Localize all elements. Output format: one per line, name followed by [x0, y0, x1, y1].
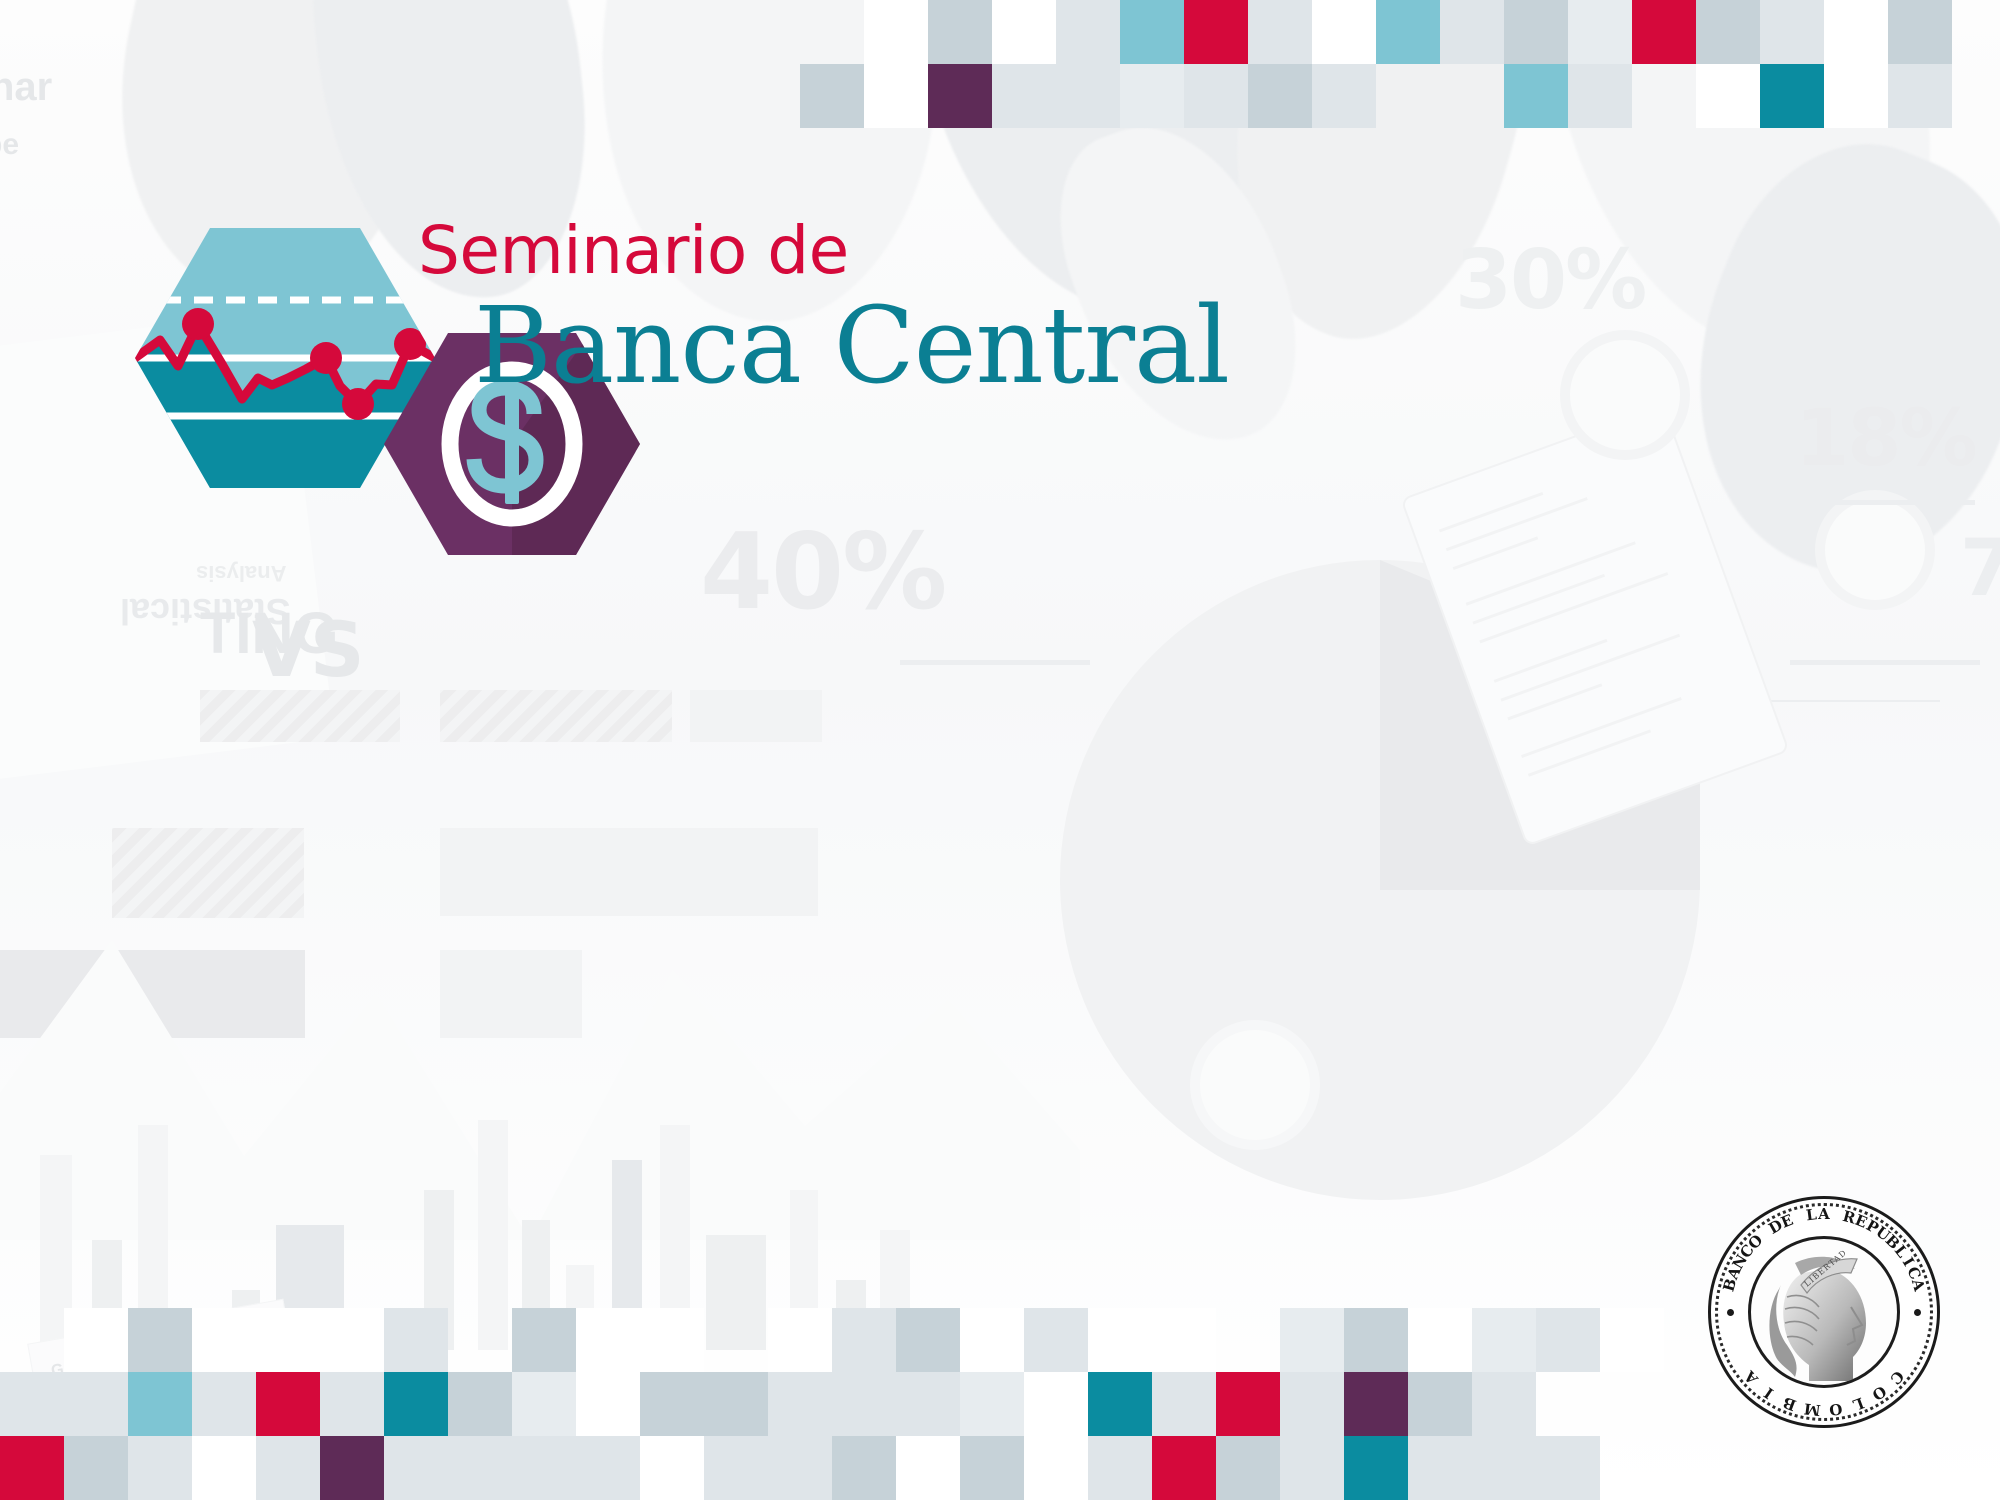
mosaic-cell-light — [256, 1436, 320, 1500]
mosaic-cell-grey — [928, 0, 992, 64]
mosaic-cell-white — [192, 1436, 256, 1500]
mosaic-cell-clear — [0, 1308, 64, 1372]
mosaic-cell-grey — [1216, 1436, 1280, 1500]
mosaic-cell-clear — [1536, 1372, 1600, 1436]
mosaic-cell-light — [1056, 64, 1120, 128]
mosaic-cell-white — [576, 1308, 640, 1372]
mosaic-cell-grey — [800, 64, 864, 128]
mosaic-cell-teal_light — [128, 1372, 192, 1436]
mosaic-cell-clear — [1632, 64, 1696, 128]
liberty-head-icon: LIBERTAD — [1765, 1245, 1883, 1385]
mosaic-cell-white — [896, 1436, 960, 1500]
bg-pie-slice — [1380, 560, 1700, 890]
mosaic-cell-light — [1536, 1308, 1600, 1372]
bg-cup — [1190, 1020, 1320, 1150]
mosaic-cell-white — [640, 1436, 704, 1500]
mosaic-cell-white — [1024, 1436, 1088, 1500]
bg-compare-bar — [440, 950, 582, 1038]
mosaic-cell-light — [1152, 1372, 1216, 1436]
mosaic-cell-grey — [1696, 0, 1760, 64]
mosaic-cell-purple — [1344, 1372, 1408, 1436]
bg-compare-bar — [0, 950, 305, 1038]
mosaic-cell-light — [64, 1372, 128, 1436]
mosaic-cell-purple — [320, 1436, 384, 1500]
bg-cup — [1560, 330, 1690, 460]
bg-compare-bar — [112, 828, 304, 918]
mosaic-cell-white — [1408, 1308, 1472, 1372]
title-line-banca-central: Banca Central — [474, 290, 1229, 401]
mosaic-cell-teal_dark — [384, 1372, 448, 1436]
mosaic-cell-light — [1280, 1372, 1344, 1436]
mosaic-cell-light — [992, 64, 1056, 128]
mosaic-cell-light — [128, 1436, 192, 1500]
bg-watermark-40: 40% — [700, 520, 945, 625]
mosaic-cell-light — [896, 1372, 960, 1436]
mosaic-cell-purple — [928, 64, 992, 128]
mosaic-cell-light — [1024, 1308, 1088, 1372]
mosaic-cell-teal_dark — [1760, 64, 1824, 128]
mosaic-cell-clear — [1952, 64, 2000, 128]
mosaic-cell-light — [1760, 0, 1824, 64]
mosaic-cell-clear — [1216, 1308, 1280, 1372]
mosaic-cell-grey — [1504, 0, 1568, 64]
mosaic-cell-white — [864, 64, 928, 128]
mosaic-cell-light — [1312, 64, 1376, 128]
bg-compare-bar — [440, 690, 672, 742]
mosaic-cell-red — [256, 1372, 320, 1436]
bottom-pixel-mosaic — [0, 1308, 1664, 1500]
mosaic-cell-white — [864, 0, 928, 64]
mosaic-cell-light — [1888, 64, 1952, 128]
mosaic-cell-pale — [1120, 64, 1184, 128]
bg-watermark-30: 30% — [1455, 240, 1645, 322]
mosaic-cell-light — [512, 1436, 576, 1500]
mosaic-cell-light — [768, 1372, 832, 1436]
mosaic-cell-white — [256, 1308, 320, 1372]
bg-compare-bar — [440, 828, 818, 916]
mosaic-cell-teal_light — [1504, 64, 1568, 128]
mosaic-cell-light — [768, 1436, 832, 1500]
mosaic-cell-white — [576, 1372, 640, 1436]
mosaic-cell-light — [1472, 1372, 1536, 1436]
mosaic-cell-light — [0, 1372, 64, 1436]
mosaic-cell-pale — [1472, 1308, 1536, 1372]
mosaic-cell-clear — [800, 0, 864, 64]
mosaic-cell-white — [1024, 1372, 1088, 1436]
mosaic-cell-teal_dark — [1088, 1372, 1152, 1436]
mosaic-cell-white — [320, 1308, 384, 1372]
mosaic-cell-light — [1408, 1436, 1472, 1500]
mosaic-cell-clear — [1440, 64, 1504, 128]
mosaic-cell-white — [64, 1308, 128, 1372]
slide-canvas: nar be e Statistical Analysis TING 40% 3… — [0, 0, 2000, 1500]
mosaic-cell-white — [1600, 1308, 1664, 1372]
mosaic-cell-teal_light — [1376, 0, 1440, 64]
mosaic-cell-red — [1632, 0, 1696, 64]
mosaic-cell-white — [640, 1308, 704, 1372]
mosaic-cell-white — [992, 0, 1056, 64]
mosaic-cell-clear — [448, 1308, 512, 1372]
mosaic-cell-pale — [1280, 1308, 1344, 1372]
mosaic-cell-light — [832, 1372, 896, 1436]
mosaic-cell-clear — [1600, 1436, 1664, 1500]
bg-text-nar: nar — [0, 65, 52, 110]
mosaic-cell-light — [704, 1436, 768, 1500]
bg-compare-bar — [200, 690, 400, 742]
bg-watermark-18: 18% — [1795, 400, 1976, 478]
mosaic-cell-white — [960, 1308, 1024, 1372]
mosaic-cell-grey — [448, 1372, 512, 1436]
mosaic-cell-pale — [1568, 0, 1632, 64]
bg-zigzag — [0, 940, 1080, 1240]
mosaic-cell-grey — [832, 1436, 896, 1500]
mosaic-cell-light — [320, 1372, 384, 1436]
mosaic-cell-grey — [960, 1436, 1024, 1500]
mosaic-cell-grey — [640, 1372, 704, 1436]
mosaic-cell-white — [1824, 64, 1888, 128]
top-pixel-mosaic — [800, 0, 2000, 128]
bg-pie-chart — [1060, 560, 1700, 1200]
bg-watermark-7: 7% — [1960, 530, 2000, 608]
bg-cup — [1815, 490, 1935, 610]
mosaic-cell-grey — [896, 1308, 960, 1372]
mosaic-cell-grey — [1888, 0, 1952, 64]
mosaic-cell-white — [1088, 1308, 1152, 1372]
mosaic-cell-light — [1184, 64, 1248, 128]
mosaic-cell-red — [1184, 0, 1248, 64]
mosaic-cell-grey — [1248, 64, 1312, 128]
mosaic-cell-grey — [128, 1308, 192, 1372]
mosaic-cell-light — [1056, 0, 1120, 64]
bg-underline — [1795, 500, 1975, 505]
mosaic-cell-white — [1152, 1308, 1216, 1372]
mosaic-cell-red — [1152, 1436, 1216, 1500]
mosaic-cell-white — [1696, 64, 1760, 128]
mosaic-cell-light — [448, 1436, 512, 1500]
bg-compare-bar — [690, 690, 822, 742]
mosaic-cell-teal_dark — [1344, 1436, 1408, 1500]
mosaic-cell-clear — [1952, 0, 2000, 64]
mosaic-cell-light — [384, 1436, 448, 1500]
mosaic-cell-light — [1440, 0, 1504, 64]
bg-text-e: e — [0, 176, 1, 210]
bg-pie-leader — [1700, 700, 1940, 702]
mosaic-cell-clear — [704, 1308, 768, 1372]
mosaic-cell-white — [1312, 0, 1376, 64]
title-block: Seminario de Banca Central — [418, 218, 1229, 401]
bg-underline — [1790, 660, 1980, 665]
mosaic-cell-light — [1088, 1436, 1152, 1500]
bg-tablet — [1400, 403, 1790, 846]
title-line-seminario: Seminario de — [418, 218, 1229, 284]
mosaic-cell-light — [1568, 64, 1632, 128]
mosaic-cell-red — [0, 1436, 64, 1500]
mosaic-cell-light — [1248, 0, 1312, 64]
mosaic-cell-light — [192, 1372, 256, 1436]
banco-republica-seal: BANCO DE LA REPUBLICA COLOMBIA — [1708, 1196, 1940, 1428]
mosaic-cell-light — [1536, 1436, 1600, 1500]
mosaic-cell-grey — [1344, 1308, 1408, 1372]
mosaic-cell-light — [1472, 1436, 1536, 1500]
mosaic-cell-clear — [1600, 1372, 1664, 1436]
mosaic-cell-grey — [512, 1308, 576, 1372]
mosaic-cell-teal_light — [1120, 0, 1184, 64]
mosaic-cell-light — [832, 1308, 896, 1372]
mosaic-cell-white — [1824, 0, 1888, 64]
bg-underline — [900, 660, 1090, 665]
bg-blob — [1633, 105, 2000, 614]
mosaic-cell-light — [384, 1308, 448, 1372]
mosaic-cell-pale — [512, 1372, 576, 1436]
mosaic-cell-white — [768, 1308, 832, 1372]
mosaic-cell-white — [192, 1308, 256, 1372]
mosaic-cell-grey — [1408, 1372, 1472, 1436]
mosaic-cell-grey — [704, 1372, 768, 1436]
mosaic-cell-pale — [960, 1372, 1024, 1436]
mosaic-cell-clear — [1376, 64, 1440, 128]
bg-text-be: be — [0, 128, 19, 162]
seal-inner-circle: LIBERTAD — [1748, 1236, 1900, 1388]
mosaic-cell-red — [1216, 1372, 1280, 1436]
mosaic-cell-light — [576, 1436, 640, 1500]
mosaic-cell-light — [1280, 1436, 1344, 1500]
mosaic-cell-grey — [64, 1436, 128, 1500]
